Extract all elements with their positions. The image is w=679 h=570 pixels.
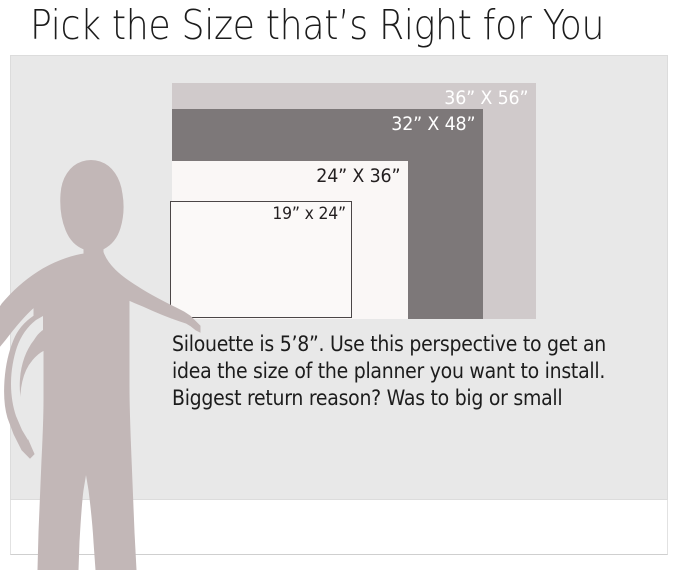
size-label-24x36: 24” X 36”: [316, 165, 400, 187]
size-rect-19x24[interactable]: 19” x 24”: [170, 201, 352, 318]
title-bar: Pick the Size that’s Right for You: [0, 0, 679, 54]
caption-line-2: idea the size of the planner you want to…: [172, 358, 613, 385]
size-label-19x24: 19” x 24”: [272, 204, 346, 224]
caption-line-3: Biggest return reason? Was to big or sma…: [172, 385, 613, 412]
size-label-32x48: 32” X 48”: [391, 113, 475, 135]
illustration-panel: 36” X 75” 36” X 56” 32” X 48” 24” X 36” …: [10, 55, 668, 500]
size-label-36x56: 36” X 56”: [444, 87, 528, 109]
panel-base-strip: [10, 500, 668, 555]
caption-block: Silouette is 5’8”. Use this perspective …: [172, 331, 662, 412]
poster-canvas: Pick the Size that’s Right for You 36” X…: [0, 0, 679, 570]
page-title: Pick the Size that’s Right for You: [30, 0, 596, 53]
caption-line-1: Silouette is 5’8”. Use this perspective …: [172, 331, 613, 358]
